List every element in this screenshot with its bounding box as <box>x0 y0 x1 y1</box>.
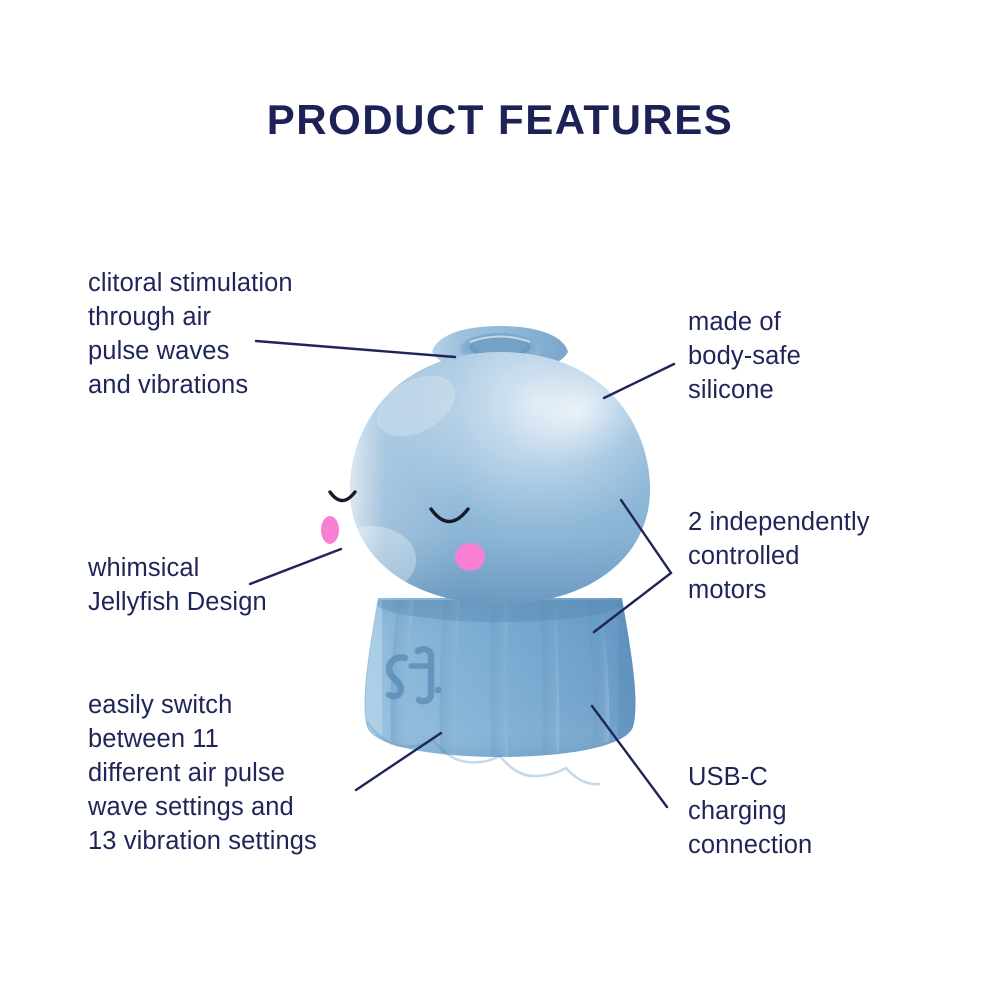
callout-motors: 2 independently controlled motors <box>688 505 978 607</box>
callout-settings: easily switch between 11 different air p… <box>88 688 418 858</box>
callout-whimsical-design: whimsical Jellyfish Design <box>88 551 388 619</box>
product-features-infographic: PRODUCT FEATURES <box>0 0 1000 1000</box>
callout-silicone: made of body-safe silicone <box>688 305 958 407</box>
callout-usb-c: USB-C charging connection <box>688 760 948 862</box>
callout-air-pulse: clitoral stimulation through air pulse w… <box>88 266 398 402</box>
